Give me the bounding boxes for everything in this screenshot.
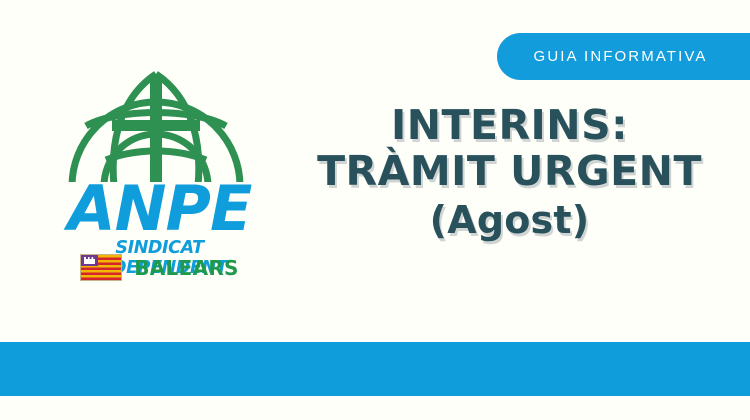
anpe-text: ANPE	[52, 180, 267, 237]
anpe-globe-icon	[66, 68, 246, 186]
badge-label: GUIA INFORMATIVA	[534, 48, 714, 65]
bottom-accent-bar	[0, 342, 750, 396]
headline-line-2: TRÀMIT URGENT	[282, 149, 737, 195]
flag-canton	[81, 255, 98, 266]
guia-informativa-badge: GUIA INFORMATIVA	[497, 33, 750, 80]
headline-line-3: (Agost)	[282, 195, 737, 245]
balearic-islands-flag-icon	[80, 254, 122, 281]
anpe-logo: ANPE SINDICAT INDEPENDENT BALEARS	[52, 68, 267, 288]
castle-emblem-icon	[84, 257, 95, 264]
balears-row: BALEARS	[52, 254, 267, 281]
headline-line-1: INTERINS:	[282, 103, 737, 149]
poster-canvas: GUIA INFORMATIVA	[0, 0, 750, 420]
page-title: INTERINS: TRÀMIT URGENT (Agost)	[282, 103, 737, 245]
balears-label: BALEARS	[134, 256, 239, 280]
